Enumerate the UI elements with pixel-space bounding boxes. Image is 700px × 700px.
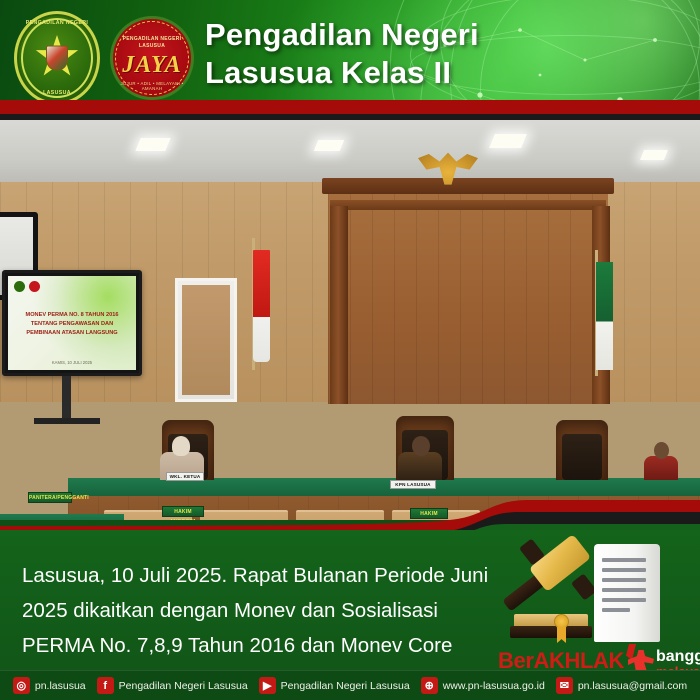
person-head (172, 436, 190, 456)
crest-top-text: PENGADILAN NEGERI (14, 20, 100, 26)
footer-contact-bar: ◎pn.lasusuafPengadilan Negeri Lasusua▶Pe… (0, 670, 700, 700)
person-head (412, 436, 430, 456)
title-line-2: Lasusua Kelas II (205, 54, 690, 92)
caption-line-2: 2025 dikaitkan dengan Monev dan Sosialis… (22, 593, 492, 628)
person-right (644, 456, 678, 480)
chair-right (556, 420, 608, 480)
screen-base (34, 418, 100, 424)
nameplate-wakil-ketua: WKL. KETUA (166, 472, 204, 481)
footer-item[interactable]: ◎pn.lasusua (13, 677, 86, 694)
instagram-icon[interactable]: ◎ (13, 677, 30, 694)
youtube-icon[interactable]: ▶ (259, 677, 276, 694)
facebook-icon[interactable]: f (97, 677, 114, 694)
person-head (654, 442, 669, 459)
slide-date: KAMIS, 10 JULI 2025 (16, 360, 128, 365)
gavel-sound-block-base (510, 626, 592, 638)
court-flag (596, 262, 613, 370)
courtroom-door (175, 278, 237, 402)
judge-bench-top (68, 478, 700, 498)
email-icon[interactable]: ✉ (556, 677, 573, 694)
footer-item-label: Pengadilan Negeri Lasusua (281, 680, 410, 692)
ceiling-light (135, 138, 170, 151)
gavel-document-illustration (510, 538, 690, 658)
indonesian-flag (253, 250, 270, 362)
footer-item[interactable]: ▶Pengadilan Negeri Lasusua (259, 677, 410, 694)
wall-panel-dark (328, 182, 608, 404)
footer-item-label: Pengadilan Negeri Lasusua (119, 680, 248, 692)
footer-item-label: pn.lasusua (35, 680, 86, 692)
footer-item[interactable]: ✉pn.lasusua@gmail.com (556, 677, 687, 694)
slide-line-1: MONEV PERMA NO. 8 TAHUN 2016 (16, 312, 128, 318)
jaya-logo: PENGADILAN NEGERI LASUSUA JAYA JUJUR • A… (110, 16, 194, 100)
ceiling-light (489, 134, 527, 148)
slide-line-2: TENTANG PENGAWASAN DAN (16, 321, 128, 327)
crest-bottom-text: LASUSUA (14, 90, 100, 96)
caption-line-3: PERMA No. 7,8,9 Tahun 2016 dan Monev Cor… (22, 628, 492, 663)
caption-line-1: Lasusua, 10 Juli 2025. Rapat Bulanan Per… (22, 558, 492, 593)
pengadilan-crest-logo: PENGADILAN NEGERI LASUSUA (14, 11, 100, 105)
footer-item[interactable]: ⊕www.pn-lasusua.go.id (421, 677, 545, 694)
slide-logos (14, 281, 40, 292)
jaya-motto: JUJUR • ADIL • MELAYANI • AMANAH (110, 81, 194, 91)
title-line-1: Pengadilan Negeri (205, 16, 690, 54)
poster-root: PENGADILAN NEGERI LASUSUA PENGADILAN NEG… (0, 0, 700, 700)
jaya-top-text: PENGADILAN NEGERI LASUSUA (110, 36, 194, 50)
ceiling-light (640, 150, 668, 160)
footer-item[interactable]: fPengadilan Negeri Lasusua (97, 677, 248, 694)
footer-item-label: www.pn-lasusua.go.id (443, 680, 545, 692)
person-kpn (398, 452, 442, 480)
document-scroll-icon (594, 544, 660, 642)
logo-group: PENGADILAN NEGERI LASUSUA PENGADILAN NEG… (0, 0, 194, 116)
document-seal (554, 614, 569, 629)
cornice-trim (322, 178, 614, 194)
cornice-trim-lower (330, 200, 606, 210)
slide-line-3: PEMBINAAN ATASAN LANGSUNG (16, 330, 128, 336)
event-photo: MONEV PERMA NO. 8 TAHUN 2016 TENTANG PEN… (0, 120, 700, 520)
nameplate-kpn: KPN LASUSUA (390, 480, 436, 489)
footer-item-label: pn.lasusua@gmail.com (578, 680, 687, 692)
header-banner: PENGADILAN NEGERI LASUSUA PENGADILAN NEG… (0, 0, 700, 116)
wall-pillar (330, 206, 348, 404)
page-title: Pengadilan Negeri Lasusua Kelas II (205, 16, 690, 92)
document-ribbon (557, 627, 566, 643)
screen-stand (62, 376, 71, 422)
globe-icon[interactable]: ⊕ (421, 677, 438, 694)
jaya-word: JAYA (110, 52, 194, 79)
ceiling-light (314, 140, 344, 151)
presentation-screen: MONEV PERMA NO. 8 TAHUN 2016 TENTANG PEN… (2, 270, 142, 376)
